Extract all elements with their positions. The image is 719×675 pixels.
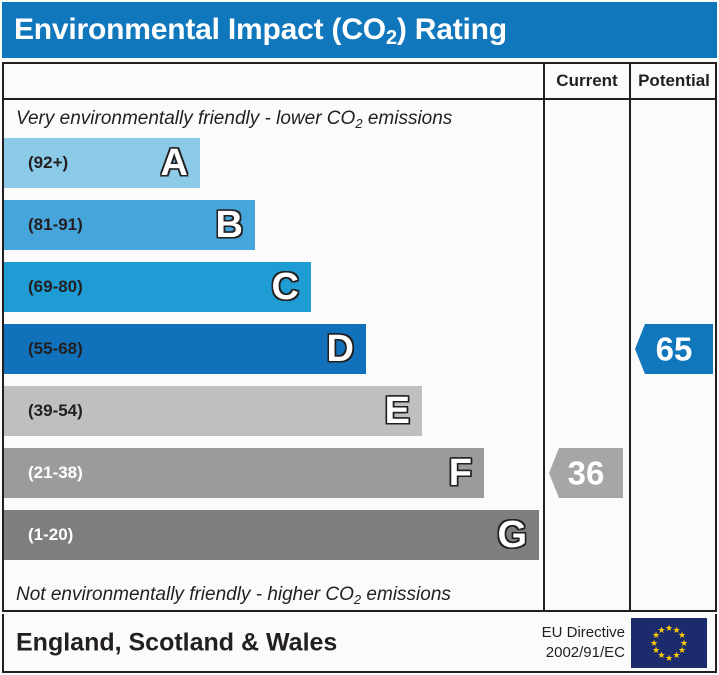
band-g: (1-20) G	[4, 510, 539, 560]
descriptor-top: Very environmentally friendly - lower CO…	[16, 108, 536, 130]
band-c-letter: C	[272, 268, 299, 306]
band-f-letter: F	[449, 454, 472, 492]
band-a: (92+) A	[4, 138, 200, 188]
band-d-range: (55-68)	[28, 339, 83, 359]
footer-region-label: England, Scotland & Wales	[16, 628, 337, 657]
rating-bands: (92+) A (81-91) B (69-80) C (55-68) D (3…	[4, 138, 541, 578]
band-d: (55-68) D	[4, 324, 366, 374]
eu-flag-star-icon: ★	[665, 654, 673, 662]
eu-directive-line1: EU Directive	[542, 622, 625, 642]
potential-rating-marker: 65	[635, 324, 713, 374]
band-d-letter: D	[327, 330, 354, 368]
column-header-current: Current	[545, 64, 629, 98]
column-divider-potential	[629, 64, 631, 610]
epc-environmental-impact-chart: Environmental Impact (CO2) Rating Curren…	[0, 0, 719, 675]
band-a-letter: A	[161, 144, 188, 182]
eu-flag-star-icon: ★	[658, 626, 666, 634]
current-rating-value: 36	[549, 457, 623, 490]
chart-footer: England, Scotland & Wales EU Directive 2…	[2, 614, 717, 673]
band-c: (69-80) C	[4, 262, 311, 312]
band-b-range: (81-91)	[28, 215, 83, 235]
eu-flag-icon: ★★★★★★★★★★★★	[631, 618, 707, 668]
eu-directive-line2: 2002/91/EC	[542, 643, 625, 663]
band-b-letter: B	[216, 206, 243, 244]
column-divider-current	[543, 64, 545, 610]
descriptor-bottom-subscript: 2	[354, 592, 361, 607]
band-a-range: (92+)	[28, 153, 68, 173]
page-title: Environmental Impact (CO2) Rating	[14, 13, 507, 47]
band-f-range: (21-38)	[28, 463, 83, 483]
eu-flag-star-icon: ★	[673, 651, 681, 659]
band-g-letter: G	[497, 516, 527, 554]
eu-directive-text: EU Directive 2002/91/EC	[542, 622, 625, 663]
descriptor-bottom: Not environmentally friendly - higher CO…	[16, 584, 536, 606]
chart-title-bar: Environmental Impact (CO2) Rating	[2, 2, 717, 58]
descriptor-top-subscript: 2	[355, 116, 362, 131]
column-header-potential: Potential	[631, 64, 717, 98]
band-e-range: (39-54)	[28, 401, 83, 421]
band-b: (81-91) B	[4, 200, 255, 250]
band-e: (39-54) E	[4, 386, 422, 436]
band-e-letter: E	[385, 392, 410, 430]
title-subscript: 2	[386, 27, 397, 49]
current-rating-marker: 36	[549, 448, 623, 498]
potential-rating-value: 65	[635, 333, 713, 366]
band-f: (21-38) F	[4, 448, 484, 498]
band-g-range: (1-20)	[28, 525, 73, 545]
band-c-range: (69-80)	[28, 277, 83, 297]
rating-table: Current Potential Very environmentally f…	[2, 62, 717, 612]
